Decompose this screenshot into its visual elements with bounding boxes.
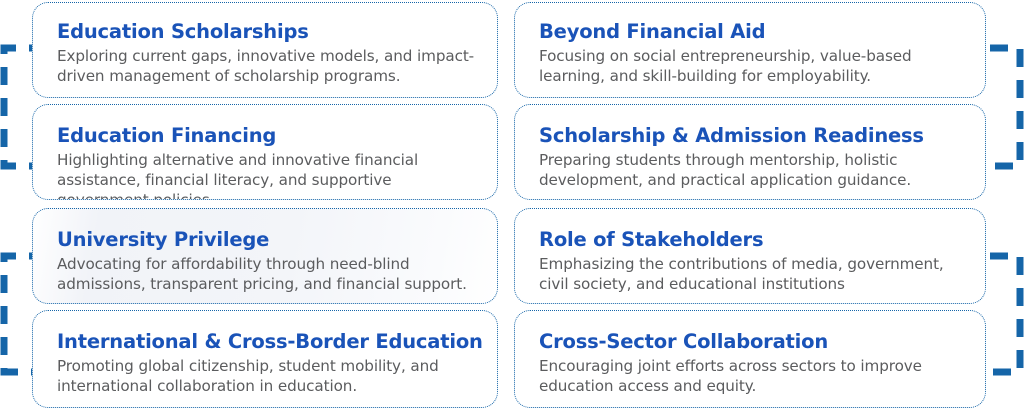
card-title: Beyond Financial Aid — [539, 11, 967, 44]
card-title: Scholarship & Admission Readiness — [539, 113, 967, 148]
card-title: University Privilege — [57, 217, 479, 252]
card-description: Focusing on social entrepreneurship, val… — [539, 46, 967, 86]
card-university-privilege[interactable]: University Privilege Advocating for affo… — [32, 208, 498, 304]
card-description: Encouraging joint efforts across sectors… — [539, 356, 967, 396]
card-description: Exploring current gaps, innovative model… — [57, 46, 479, 86]
card-education-scholarships[interactable]: Education Scholarships Exploring current… — [32, 2, 498, 98]
card-description: Advocating for affordability through nee… — [57, 254, 479, 294]
card-title: Cross-Sector Collaboration — [539, 319, 967, 354]
card-description: Highlighting alternative and innovative … — [57, 150, 479, 200]
card-education-financing[interactable]: Education Financing Highlighting alterna… — [32, 104, 498, 200]
card-title: International & Cross-Border Education — [57, 319, 479, 354]
card-description: Promoting global citizenship, student mo… — [57, 356, 479, 396]
card-scholarship-admission-readiness[interactable]: Scholarship & Admission Readiness Prepar… — [514, 104, 986, 200]
card-title: Education Scholarships — [57, 11, 479, 44]
card-description: Preparing students through mentorship, h… — [539, 150, 967, 190]
topic-card-board: Education Scholarships Exploring current… — [0, 0, 1024, 412]
card-international-cross-border-education[interactable]: International & Cross-Border Education P… — [32, 310, 498, 408]
card-title: Education Financing — [57, 113, 479, 148]
card-beyond-financial-aid[interactable]: Beyond Financial Aid Focusing on social … — [514, 2, 986, 98]
card-cross-sector-collaboration[interactable]: Cross-Sector Collaboration Encouraging j… — [514, 310, 986, 408]
card-description: Emphasizing the contributions of media, … — [539, 254, 967, 294]
card-role-of-stakeholders[interactable]: Role of Stakeholders Emphasizing the con… — [514, 208, 986, 304]
card-title: Role of Stakeholders — [539, 217, 967, 252]
